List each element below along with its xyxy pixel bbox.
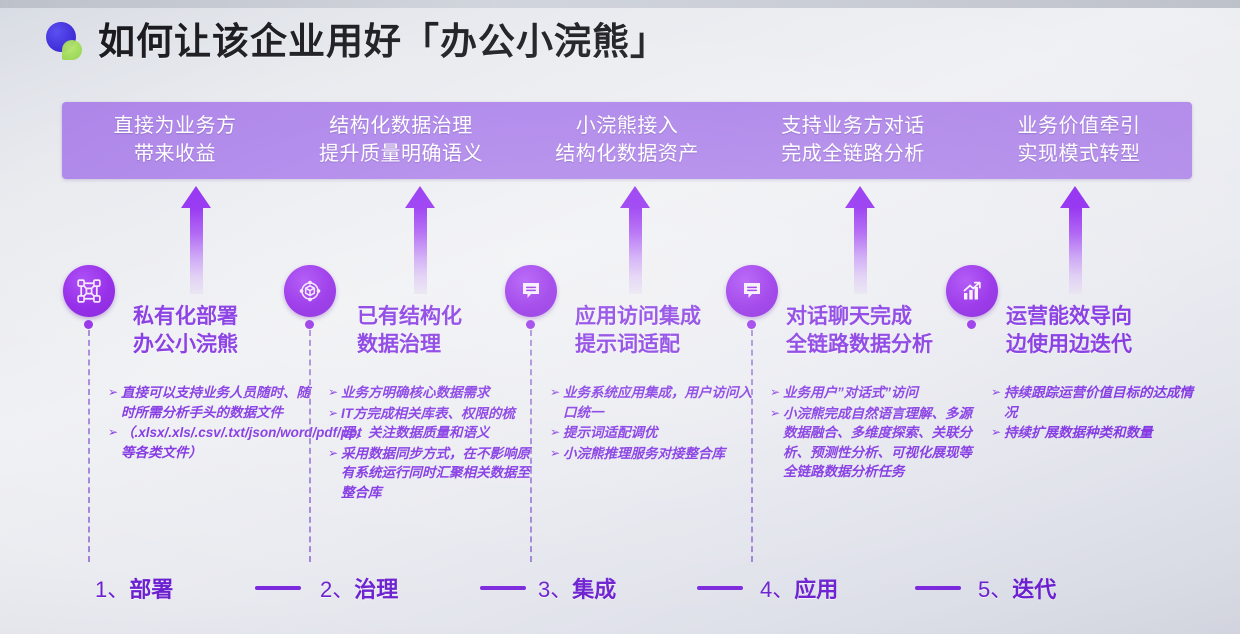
stage-5-heading-line2: 边使用边迭代	[1006, 331, 1132, 359]
stage-4-heading-line1: 对话聊天完成	[786, 303, 933, 331]
list-item: ➢ 业务方明确核心数据需求	[328, 383, 535, 403]
stage-2-bullet-1: 业务方明确核心数据需求	[341, 383, 535, 403]
step-4-number: 4、	[760, 577, 794, 602]
step-5-number: 5、	[978, 577, 1012, 602]
bullet-marker-icon: ➢	[550, 383, 563, 422]
stage-1-bullets: ➢ 直接可以支持业务人员随时、随时所需分析手头的数据文件 ➢ （.xlsx/.x…	[108, 383, 314, 463]
outcome-banner: 直接为业务方 带来收益 结构化数据治理 提升质量明确语义 小浣熊接入 结构化数据…	[62, 102, 1192, 179]
step-3-label: 集成	[572, 577, 616, 602]
stage-2-heading-line2: 数据治理	[357, 331, 462, 359]
arrow-shaft-5	[1069, 208, 1082, 294]
stage-5-bullet-2: 持续扩展数据种类和数量	[1004, 423, 1193, 443]
bullet-marker-icon: ➢	[770, 404, 783, 482]
list-item: ➢ 持续跟踪运营价值目标的达成情况	[991, 383, 1193, 422]
stage-3-bullet-3: 小浣熊推理服务对接整合库	[563, 444, 757, 464]
page-header: 如何让该企业用好「办公小浣熊」	[42, 18, 668, 64]
stage-3-heading: 应用访问集成 提示词适配	[575, 303, 701, 358]
bullet-marker-icon: ➢	[770, 383, 783, 403]
list-item: ➢ 业务用户”对话式”访问	[770, 383, 972, 403]
arrow-head-5	[1060, 186, 1090, 208]
list-item: ➢ 提示词适配调优	[550, 423, 757, 443]
stage-2-bullets: ➢ 业务方明确核心数据需求 ➢ IT方完成相关库表、权限的梳理，关注数据质量和语…	[328, 383, 535, 503]
stage-2-heading: 已有结构化 数据治理	[357, 303, 462, 358]
step-2: 2、治理	[320, 572, 398, 604]
stage-5-bullet-1: 持续跟踪运营价值目标的达成情况	[1004, 383, 1193, 422]
stage-1-nub	[84, 320, 93, 329]
list-item: ➢ 直接可以支持业务人员随时、随时所需分析手头的数据文件	[108, 383, 314, 422]
step-5-label: 迭代	[1012, 577, 1056, 602]
bullet-marker-icon: ➢	[328, 404, 341, 443]
bullet-marker-icon: ➢	[328, 444, 341, 503]
banner-cell-3: 小浣熊接入 结构化数据资产	[514, 102, 740, 179]
stage-3-divider	[530, 330, 532, 562]
stage-4-badge[interactable]	[726, 265, 778, 317]
banner-cell-4-line2: 完成全链路分析	[781, 141, 925, 169]
step-1: 1、部署	[95, 572, 173, 604]
list-item: ➢ 持续扩展数据种类和数量	[991, 423, 1193, 443]
step-4-label: 应用	[794, 577, 838, 602]
banner-cell-1-line1: 直接为业务方	[114, 113, 237, 141]
banner-cell-3-line2: 结构化数据资产	[555, 141, 699, 169]
step-1-label: 部署	[129, 577, 173, 602]
list-item: ➢ 采用数据同步方式，在不影响原有系统运行同时汇聚相关数据至整合库	[328, 444, 535, 503]
stage-4-bullet-1: 业务用户”对话式”访问	[783, 383, 972, 403]
bullet-marker-icon: ➢	[550, 444, 563, 464]
chat-bubble-icon	[519, 279, 543, 303]
stage-5-bullets: ➢ 持续跟踪运营价值目标的达成情况 ➢ 持续扩展数据种类和数量	[991, 383, 1193, 444]
stage-2-divider	[309, 330, 311, 562]
stage-1-heading-line1: 私有化部署	[133, 303, 238, 331]
stage-1-heading: 私有化部署 办公小浣熊	[133, 303, 238, 358]
bullet-marker-icon: ➢	[991, 423, 1004, 443]
stage-4-nub	[747, 320, 756, 329]
stage-2-heading-line1: 已有结构化	[357, 303, 462, 331]
stage-1-bullet-2: （.xlsx/.xls/.csv/.txt/json/word/pdf/ppt …	[121, 423, 362, 462]
stage-3-heading-line2: 提示词适配	[575, 331, 701, 359]
step-connector-2	[480, 586, 526, 590]
stage-3-nub	[526, 320, 535, 329]
arrow-head-2	[405, 186, 435, 208]
stage-5-badge[interactable]	[946, 265, 998, 317]
list-item: ➢ 小浣熊推理服务对接整合库	[550, 444, 757, 464]
flow-arrow-2	[405, 186, 435, 294]
arrow-shaft-2	[414, 208, 427, 294]
bar-chart-growth-icon	[960, 279, 984, 303]
arrow-shaft-3	[629, 208, 642, 294]
step-2-number: 2、	[320, 577, 354, 602]
page-title: 如何让该企业用好「办公小浣熊」	[98, 23, 668, 60]
stage-1-badge[interactable]	[63, 265, 115, 317]
banner-cell-3-line1: 小浣熊接入	[576, 113, 679, 141]
list-item: ➢ IT方完成相关库表、权限的梳理，关注数据质量和语义	[328, 404, 535, 443]
brand-dot-logo-icon	[42, 18, 88, 64]
bullet-marker-icon: ➢	[328, 383, 341, 403]
bullet-marker-icon: ➢	[108, 383, 121, 422]
banner-cell-5: 业务价值牵引 实现模式转型	[966, 102, 1192, 179]
arrow-head-1	[181, 186, 211, 208]
stage-5-heading: 运营能效导向 边使用边迭代	[1006, 303, 1132, 358]
bullet-marker-icon: ➢	[108, 423, 121, 462]
stage-4-bullets: ➢ 业务用户”对话式”访问 ➢ 小浣熊完成自然语言理解、多源数据融合、多维度探索…	[770, 383, 972, 483]
banner-cell-4: 支持业务方对话 完成全链路分析	[740, 102, 966, 179]
stage-5-nub	[967, 320, 976, 329]
banner-cell-2-line2: 提升质量明确语义	[319, 141, 483, 169]
logo-green-leaf	[62, 40, 82, 60]
stage-1-heading-line2: 办公小浣熊	[133, 331, 238, 359]
banner-cell-2: 结构化数据治理 提升质量明确语义	[288, 102, 514, 179]
step-connector-3	[697, 586, 743, 590]
list-item: ➢ 小浣熊完成自然语言理解、多源数据融合、多维度探索、关联分析、预测性分析、可视…	[770, 404, 972, 482]
banner-cell-1: 直接为业务方 带来收益	[62, 102, 288, 179]
stage-2-bullet-3: 采用数据同步方式，在不影响原有系统运行同时汇聚相关数据至整合库	[341, 444, 535, 503]
stage-1-divider	[88, 330, 90, 562]
stage-5-heading-line1: 运营能效导向	[1006, 303, 1132, 331]
step-5: 5、迭代	[978, 572, 1056, 604]
stage-2-badge[interactable]	[284, 265, 336, 317]
arrow-shaft-4	[854, 208, 867, 294]
stage-3-badge[interactable]	[505, 265, 557, 317]
banner-cell-4-line1: 支持业务方对话	[781, 113, 925, 141]
flow-arrow-5	[1060, 186, 1090, 294]
stage-3-heading-line1: 应用访问集成	[575, 303, 701, 331]
arrow-head-4	[845, 186, 875, 208]
bullet-marker-icon: ➢	[991, 383, 1004, 422]
stage-1-bullet-1: 直接可以支持业务人员随时、随时所需分析手头的数据文件	[121, 383, 314, 422]
banner-cell-5-line1: 业务价值牵引	[1018, 113, 1141, 141]
step-connector-4	[915, 586, 961, 590]
arrow-shaft-1	[190, 208, 203, 294]
step-legend: 1、部署 2、治理 3、集成 4、应用 5、迭代	[0, 572, 1240, 616]
step-connector-1	[255, 586, 301, 590]
network-nodes-icon	[76, 278, 102, 304]
flow-arrow-1	[181, 186, 211, 294]
stage-2-bullet-2: IT方完成相关库表、权限的梳理，关注数据质量和语义	[341, 404, 535, 443]
stage-3-bullets: ➢ 业务系统应用集成，用户访问入口统一 ➢ 提示词适配调优 ➢ 小浣熊推理服务对…	[550, 383, 757, 464]
stage-4-heading: 对话聊天完成 全链路数据分析	[786, 303, 933, 358]
stage-2-nub	[305, 320, 314, 329]
step-4: 4、应用	[760, 572, 838, 604]
step-3-number: 3、	[538, 577, 572, 602]
banner-cell-5-line2: 实现模式转型	[1018, 141, 1141, 169]
list-item: ➢ 业务系统应用集成，用户访问入口统一	[550, 383, 757, 422]
stage-4-heading-line2: 全链路数据分析	[786, 331, 933, 359]
cube-orbit-icon	[297, 278, 323, 304]
stage-3-bullet-2: 提示词适配调优	[563, 423, 757, 443]
bullet-marker-icon: ➢	[550, 423, 563, 443]
banner-cell-1-line2: 带来收益	[134, 141, 216, 169]
flow-arrow-3	[620, 186, 650, 294]
chat-bubble-icon	[740, 279, 764, 303]
stage-4-bullet-2: 小浣熊完成自然语言理解、多源数据融合、多维度探索、关联分析、预测性分析、可视化展…	[783, 404, 972, 482]
stage-3-bullet-1: 业务系统应用集成，用户访问入口统一	[563, 383, 757, 422]
step-1-number: 1、	[95, 577, 129, 602]
flow-arrow-4	[845, 186, 875, 294]
top-band	[0, 0, 1240, 8]
stage-4-divider	[751, 330, 753, 562]
step-3: 3、集成	[538, 572, 616, 604]
list-item: ➢ （.xlsx/.xls/.csv/.txt/json/word/pdf/pp…	[108, 423, 314, 462]
step-2-label: 治理	[354, 577, 398, 602]
arrow-head-3	[620, 186, 650, 208]
banner-cell-2-line1: 结构化数据治理	[329, 113, 473, 141]
